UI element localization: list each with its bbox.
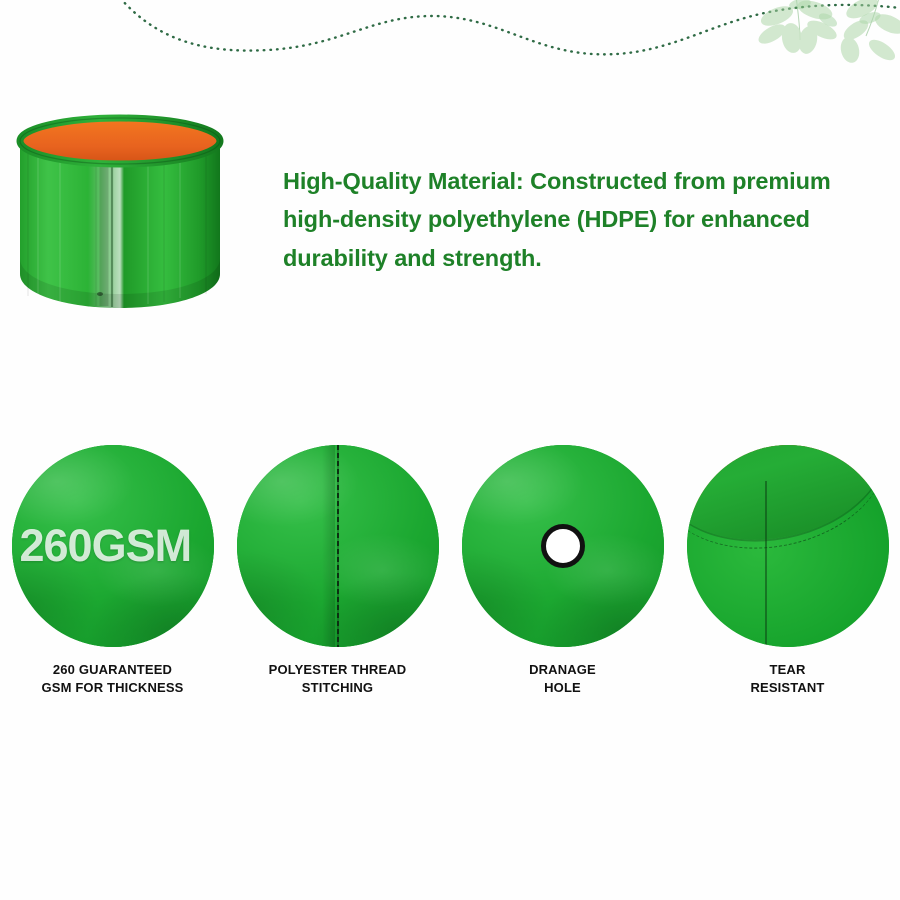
feature-caption: TEAR RESISTANT bbox=[750, 661, 824, 696]
headline-text: High-Quality Material: Constructed from … bbox=[283, 162, 893, 277]
stitched-seam-icon bbox=[237, 445, 439, 647]
feature-caption: 260 GUARANTEED GSM FOR THICKNESS bbox=[42, 661, 184, 696]
bag-rim-icon bbox=[687, 445, 889, 647]
feature-thread-stitching[interactable]: POLYESTER THREAD STITCHING bbox=[225, 445, 450, 696]
fabric-swatch-icon: 260GSM bbox=[12, 445, 214, 647]
leaf-branch-icon bbox=[730, 0, 900, 89]
feature-caption: POLYESTER THREAD STITCHING bbox=[269, 661, 407, 696]
feature-caption: DRANAGE HOLE bbox=[529, 661, 596, 696]
feature-row: 260GSM 260 GUARANTEED GSM FOR THICKNESS … bbox=[0, 445, 900, 695]
infographic-page: High-Quality Material: Constructed from … bbox=[0, 0, 900, 900]
drainage-hole-icon bbox=[462, 445, 664, 647]
feature-tear-resistant[interactable]: TEAR RESISTANT bbox=[675, 445, 900, 696]
stitch-line bbox=[337, 445, 339, 647]
seam-shadow bbox=[322, 445, 335, 647]
drain-hole-shape bbox=[541, 524, 585, 568]
hero-grow-bag-image bbox=[14, 108, 226, 320]
bag-vertical-seam bbox=[765, 481, 767, 647]
headline-lead: High-Quality Material: bbox=[283, 168, 524, 194]
gsm-badge-label: 260GSM bbox=[20, 520, 192, 572]
feature-drainage-hole[interactable]: DRANAGE HOLE bbox=[450, 445, 675, 696]
dotted-wave-divider-icon bbox=[0, 0, 900, 72]
feature-gsm-thickness[interactable]: 260GSM 260 GUARANTEED GSM FOR THICKNESS bbox=[0, 445, 225, 696]
